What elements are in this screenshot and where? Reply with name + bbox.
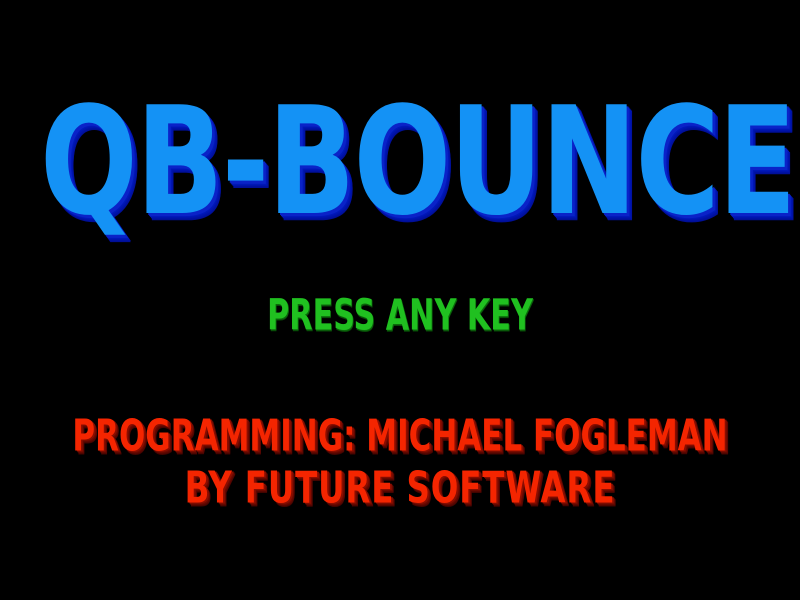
press-any-key-prompt[interactable]: PRESS ANY KEY xyxy=(80,294,720,337)
game-title: QB-BOUNCE xyxy=(40,88,760,237)
credit-line-programming: PROGRAMMING: MICHAEL FOGLEMAN xyxy=(72,414,728,458)
game-title-screen[interactable]: QB-BOUNCE PRESS ANY KEY PROGRAMMING: MIC… xyxy=(0,0,800,600)
credit-line-publisher: BY FUTURE SOFTWARE xyxy=(56,466,744,510)
